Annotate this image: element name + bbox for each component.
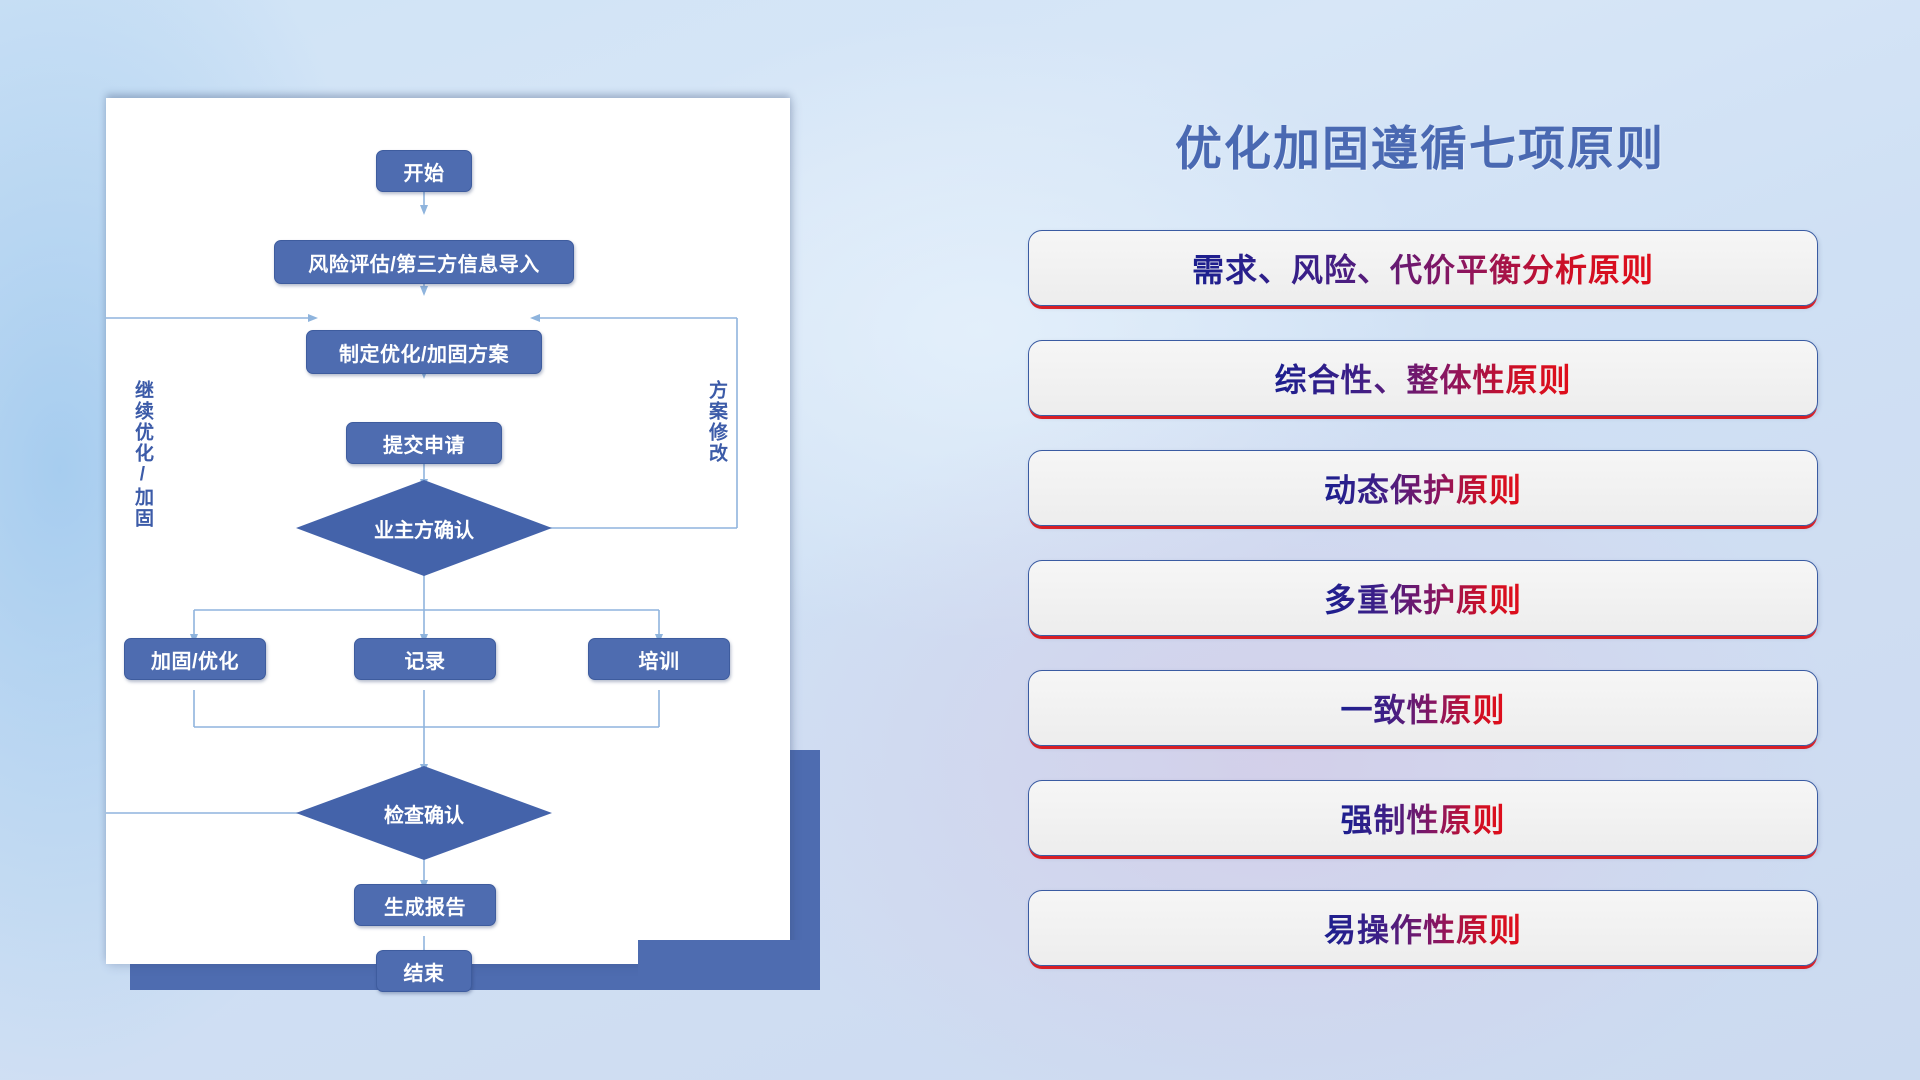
- flow-node-report-label: 生成报告: [384, 891, 466, 920]
- principle-item-7[interactable]: 易操作性原则: [1028, 890, 1818, 966]
- flow-node-report[interactable]: 生成报告: [354, 884, 496, 926]
- principle-item-4[interactable]: 多重保护原则: [1028, 560, 1818, 636]
- flow-node-risk-assessment[interactable]: 风险评估/第三方信息导入: [274, 240, 574, 284]
- flow-node-risk-assessment-label: 风险评估/第三方信息导入: [308, 248, 540, 277]
- principles-panel: 优化加固遵循七项原则 需求、风险、代价平衡分析原则 综合性、整体性原则 动态保护…: [1010, 90, 1830, 1020]
- flow-node-submit-label: 提交申请: [383, 429, 465, 458]
- flow-node-training[interactable]: 培训: [588, 638, 730, 680]
- principle-item-5[interactable]: 一致性原则: [1028, 670, 1818, 746]
- flow-node-reinforce-label: 加固/优化: [151, 645, 239, 674]
- flow-decision-owner-confirm[interactable]: 业主方确认: [296, 480, 552, 576]
- principle-item-3[interactable]: 动态保护原则: [1028, 450, 1818, 526]
- flow-node-record-label: 记录: [405, 645, 446, 674]
- principle-item-4-label: 多重保护原则: [1324, 575, 1522, 621]
- flow-node-start-label: 开始: [404, 157, 445, 186]
- principle-item-2-label: 综合性、整体性原则: [1274, 355, 1571, 401]
- flow-decision-check-confirm[interactable]: 检查确认: [296, 766, 552, 860]
- principle-item-1[interactable]: 需求、风险、代价平衡分析原则: [1028, 230, 1818, 306]
- principle-item-3-label: 动态保护原则: [1324, 465, 1522, 511]
- flow-node-reinforce[interactable]: 加固/优化: [124, 638, 266, 680]
- flow-decision-check-confirm-label: 检查确认: [384, 799, 464, 828]
- slide-canvas: 开始 风险评估/第三方信息导入 制定优化/加固方案 提交申请 业主方确认 加固/…: [0, 0, 1920, 1080]
- card-accent-block-corner: [638, 940, 820, 990]
- principle-item-6[interactable]: 强制性原则: [1028, 780, 1818, 856]
- flow-node-training-label: 培训: [639, 645, 680, 674]
- principle-item-6-label: 强制性原则: [1340, 795, 1505, 841]
- flow-decision-owner-confirm-label: 业主方确认: [374, 514, 474, 543]
- flow-edge-label-continue-optimize: 继续优化/加固: [132, 380, 152, 529]
- flow-node-end[interactable]: 结束: [376, 950, 472, 992]
- flowchart-card: 开始 风险评估/第三方信息导入 制定优化/加固方案 提交申请 业主方确认 加固/…: [106, 98, 790, 964]
- principle-item-7-label: 易操作性原则: [1324, 905, 1522, 951]
- flow-node-plan[interactable]: 制定优化/加固方案: [306, 330, 542, 374]
- flow-node-submit[interactable]: 提交申请: [346, 422, 502, 464]
- flow-node-end-label: 结束: [404, 957, 445, 986]
- principle-item-2[interactable]: 综合性、整体性原则: [1028, 340, 1818, 416]
- principles-list: 需求、风险、代价平衡分析原则 综合性、整体性原则 动态保护原则 多重保护原则 一…: [1028, 230, 1818, 966]
- principle-item-1-label: 需求、风险、代价平衡分析原则: [1192, 245, 1654, 291]
- flow-edge-label-plan-revision: 方案修改: [706, 380, 726, 464]
- principles-title: 优化加固遵循七项原则: [1010, 110, 1830, 179]
- flow-node-start[interactable]: 开始: [376, 150, 472, 192]
- flow-node-record[interactable]: 记录: [354, 638, 496, 680]
- flow-node-plan-label: 制定优化/加固方案: [339, 338, 509, 367]
- principle-item-5-label: 一致性原则: [1340, 685, 1505, 731]
